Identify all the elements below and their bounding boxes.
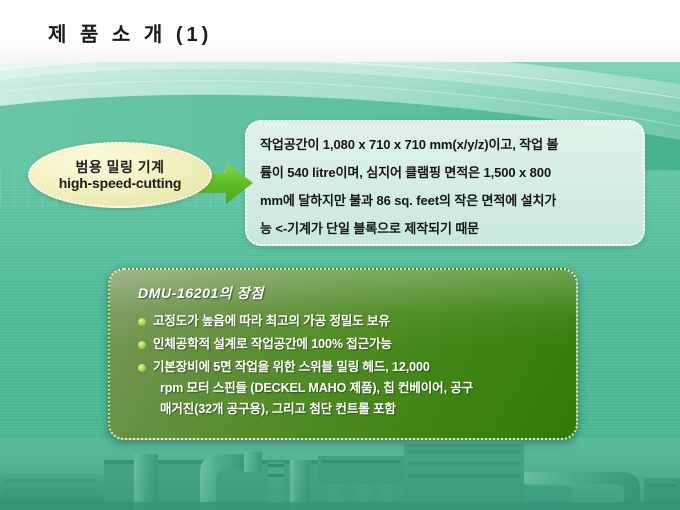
list-item-line: 기본장비에 5면 작업을 위한 스위블 밀링 헤드, 12,000: [153, 360, 430, 374]
list-item: 고정도가 높음에 따라 최고의 가공 정밀도 보유: [138, 311, 560, 332]
bullet-icon: [138, 364, 146, 372]
list-item-line: rpm 모터 스핀들 (DECKEL MAHO 제품), 칩 컨베이어, 공구: [153, 378, 560, 399]
list-item-line: 고정도가 높음에 따라 최고의 가공 정밀도 보유: [153, 314, 390, 328]
list-item: 기본장비에 5면 작업을 위한 스위블 밀링 헤드, 12,000 rpm 모터…: [138, 357, 560, 420]
bullet-icon: [138, 318, 146, 326]
spec-line: mm에 달하지만 불과 86 sq. feet의 작은 면적에 설치가: [260, 187, 630, 215]
advantages-list: 고정도가 높음에 따라 최고의 가공 정밀도 보유 인체공학적 설계로 작업공간…: [126, 311, 560, 420]
industrial-plant-photo: [0, 438, 680, 510]
page-title: 제 품 소 개 (1): [48, 18, 212, 47]
advantages-heading: DMU-16201의 장점: [138, 283, 560, 303]
callout-subtitle: high-speed-cutting: [59, 175, 181, 192]
list-item-line: 매거진(32개 공구용), 그리고 첨단 컨트롤 포함: [153, 399, 560, 420]
spec-line: 능 <-기계가 단일 블록으로 제작되기 때문: [260, 215, 630, 243]
list-item: 인체공학적 설계로 작업공간에 100% 접근가능: [138, 334, 560, 355]
spec-line: 륨이 540 litre이며, 심지어 클램핑 면적은 1,500 x 800: [260, 159, 630, 187]
callout-oval: 범용 밀링 기계 high-speed-cutting: [28, 142, 212, 208]
bullet-icon: [138, 341, 146, 349]
spec-info-box: 작업공간이 1,080 x 710 x 710 mm(x/y/z)이고, 작업 …: [245, 120, 645, 246]
callout-title: 범용 밀링 기계: [75, 159, 164, 175]
advantages-box: DMU-16201의 장점 고정도가 높음에 따라 최고의 가공 정밀도 보유 …: [108, 268, 578, 440]
spec-line: 작업공간이 1,080 x 710 x 710 mm(x/y/z)이고, 작업 …: [260, 131, 630, 159]
plant-illustration: [0, 438, 680, 510]
title-band: 제 품 소 개 (1): [0, 0, 680, 62]
slide-canvas: 작업공간이 1,080 x 710 x 710 mm(x/y/z)이고, 작업 …: [0, 0, 680, 510]
list-item-line: 인체공학적 설계로 작업공간에 100% 접근가능: [153, 337, 392, 351]
